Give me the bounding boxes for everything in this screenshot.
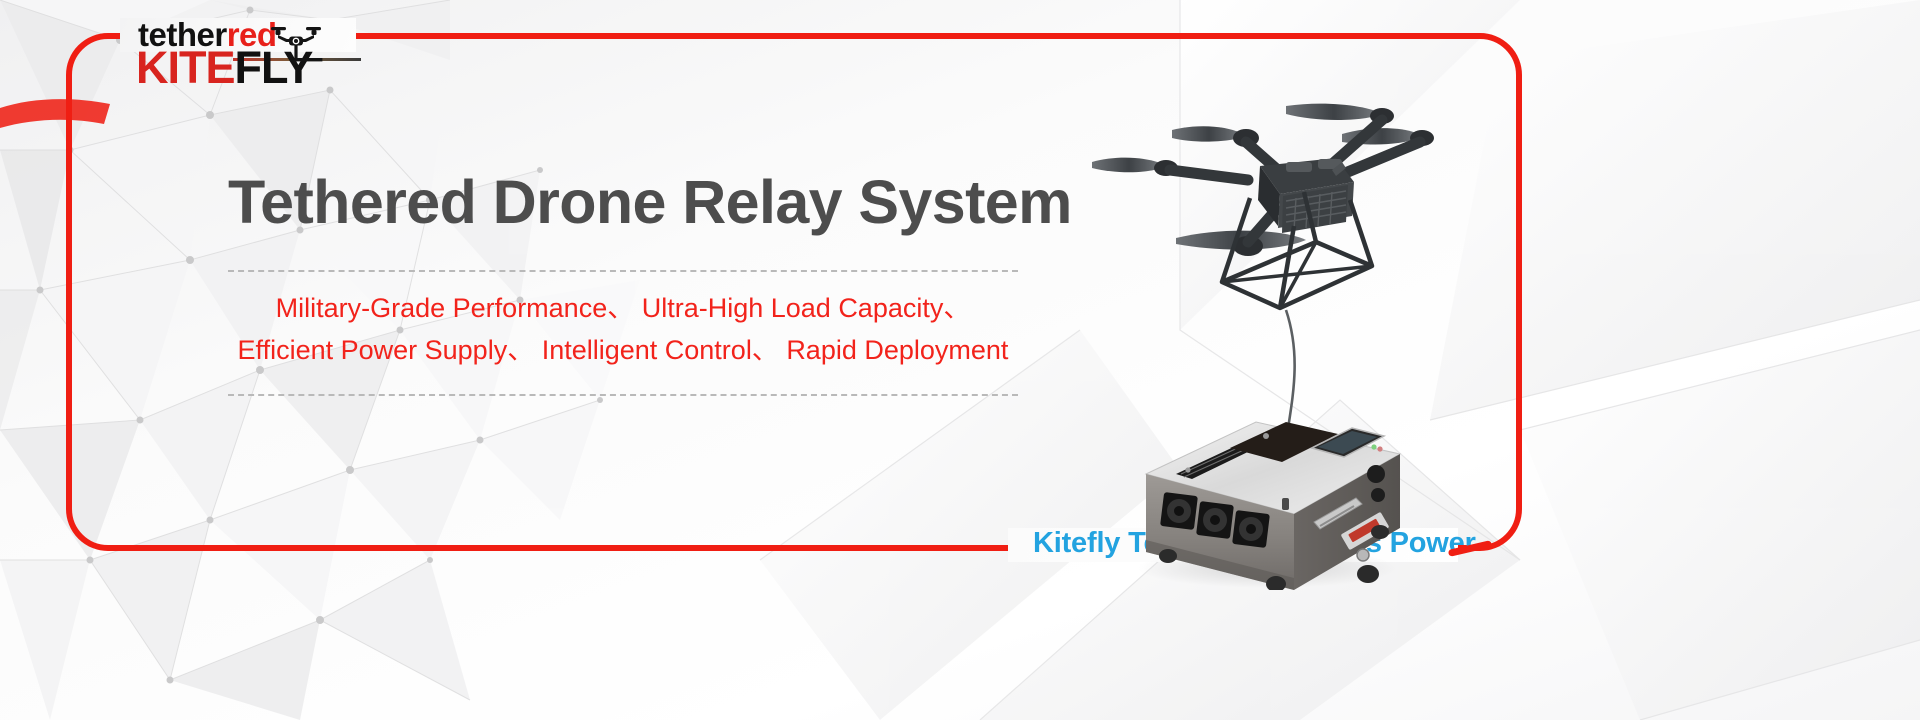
divider-bottom (228, 394, 1018, 396)
drone-tether-icon (265, 20, 327, 68)
product-image-group (1080, 70, 1520, 590)
drone-graphic (1092, 104, 1434, 308)
logo-text-kite: KITE (136, 42, 235, 93)
subtitle-list: Military-Grade Performance、 Ultra-High L… (228, 272, 1018, 372)
kitefly-logo[interactable]: tetherred KITEFLY (133, 18, 361, 90)
promo-banner: tetherred KITEFLY (0, 0, 1920, 720)
subtitle-line-2: Efficient Power Supply、 Intelligent Cont… (228, 330, 1018, 372)
page-title: Tethered Drone Relay System (228, 170, 1018, 234)
headline-block: Tethered Drone Relay System Military-Gra… (228, 170, 1018, 396)
subtitle-line-1: Military-Grade Performance、 Ultra-High L… (228, 288, 1018, 330)
